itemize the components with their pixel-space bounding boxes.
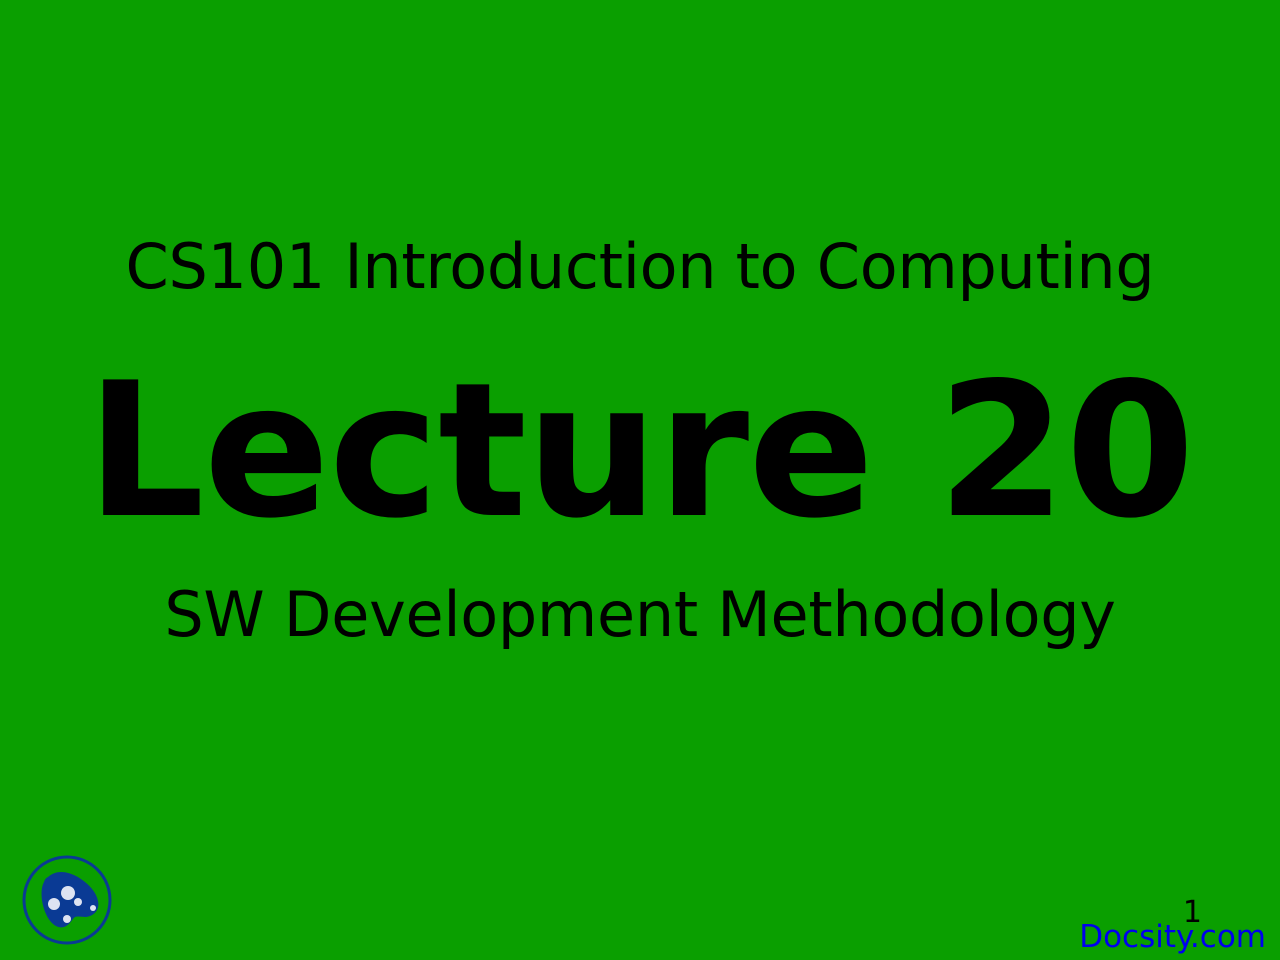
course-title: CS101 Introduction to Computing	[0, 232, 1280, 301]
topic-subtitle: SW Development Methodology	[0, 580, 1280, 649]
vu-logo-icon	[20, 853, 114, 947]
slide-canvas: CS101 Introduction to Computing Lecture …	[0, 0, 1280, 960]
docsity-watermark: Docsity.com	[1079, 922, 1266, 953]
title-block: CS101 Introduction to Computing Lecture …	[0, 0, 1280, 960]
lecture-title: Lecture 20	[0, 358, 1280, 544]
